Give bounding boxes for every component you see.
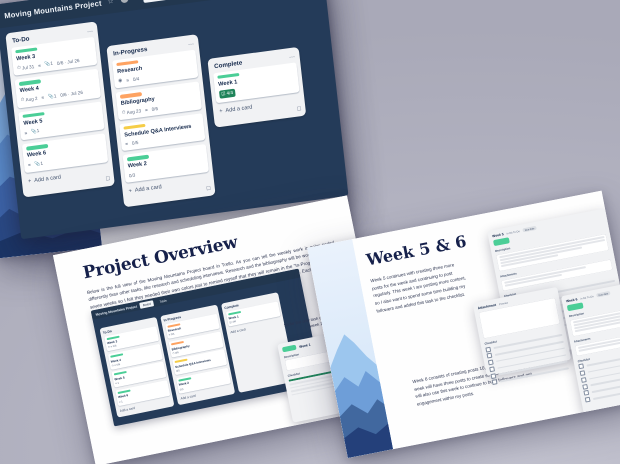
attachment-badge: 📎1 — [31, 128, 40, 135]
plus-icon: + — [128, 188, 132, 194]
checklist-badge: 0/5 — [132, 140, 139, 146]
checkbox-icon[interactable] — [581, 377, 587, 383]
list-to-do: To-Do ⋯ Week 3 ⏱Jul 31 ≡ 📎1 0/6 · Jul 26 — [5, 21, 115, 197]
checklist-badge: 0/6 — [151, 106, 158, 112]
mini-badge: ☑ 4/4 — [229, 320, 236, 324]
detail-label-chip — [282, 345, 297, 353]
checklist-text: 0/3 — [129, 172, 136, 178]
card-template-icon[interactable]: ☐ — [297, 106, 302, 113]
modal-label-chip — [493, 237, 510, 246]
list-in-progress: In-Progress ⋯ Research ◉ ≡ 0/4 Bibliogra… — [106, 34, 215, 207]
checkbox-icon[interactable] — [582, 384, 588, 390]
watch-icon: ◉ — [118, 78, 123, 84]
modal-label-chip — [567, 303, 584, 312]
mini-badge: ⏱ ≡ 0/6 — [111, 363, 120, 368]
checklist-text: 0/4 — [133, 76, 140, 82]
checklist-text: 4/4 — [226, 90, 233, 96]
detail-card-title: Week 1 — [299, 342, 311, 348]
due-date-text: Aug 23 — [126, 108, 141, 115]
modal-due-chip[interactable]: Due date — [522, 226, 536, 233]
checkbox-icon[interactable] — [489, 366, 495, 372]
modal-list-meta: in list To-Do — [580, 295, 594, 301]
checklist-text: 0/5 — [132, 140, 139, 146]
card-template-icon[interactable]: ☐ — [206, 185, 211, 192]
attachment-badge: 📎1 — [48, 93, 57, 100]
checklist-complete-badge: ☑ 4/4 — [219, 89, 235, 98]
star-icon[interactable]: ☆ — [107, 0, 115, 5]
description-icon: ≡ — [28, 162, 31, 167]
checkbox-icon[interactable] — [485, 346, 491, 352]
checkbox-icon[interactable] — [585, 397, 591, 403]
due-date-badge: ⏱Aug 23 — [122, 108, 142, 116]
plus-icon: + — [28, 178, 32, 184]
modal-title: Week 6 — [566, 297, 578, 303]
tab-board[interactable]: ◫ Board — [143, 0, 181, 3]
checkbox-icon[interactable] — [580, 370, 586, 376]
description-icon: ≡ — [145, 107, 148, 112]
clock-icon: ⏱ — [21, 98, 25, 103]
globe-icon[interactable]: ⚪ — [120, 0, 128, 4]
checkbox-icon[interactable] — [492, 380, 498, 386]
due-date-badge: ⏱Jul 31 — [17, 64, 34, 71]
description-icon: ≡ — [125, 141, 128, 146]
mini-badge: ≡ 0/4 — [169, 333, 175, 337]
mini-badge: ≡ 1 — [115, 382, 119, 386]
description-icon: ≡ — [126, 77, 129, 82]
description-icon: ≡ — [38, 63, 41, 68]
screenshot-canvas: Moving Mountains Project PROJECT MANAGME… — [0, 0, 620, 464]
attachment-preview-modal: Attachment Preview Checklist — [473, 287, 572, 376]
board-lists: To-Do ⋯ Week 3 ⏱Jul 31 ≡ 📎1 0/6 · Jul 26 — [0, 0, 347, 227]
checkbox-icon[interactable] — [488, 360, 494, 366]
due-date-text: Aug 2 — [25, 96, 37, 103]
due-date-badge: ⏱Aug 2 — [21, 96, 38, 103]
mini-badge: ≡ 1 — [119, 400, 123, 404]
checkbox-icon[interactable] — [583, 390, 589, 396]
clock-icon: ⏱ — [17, 66, 21, 71]
checklist-text: 0/6 · Jul 26 — [60, 90, 83, 98]
attachment-badge: 📎1 — [44, 61, 53, 68]
list-menu-icon[interactable]: ⋯ — [188, 41, 195, 49]
list-menu-icon[interactable]: ⋯ — [289, 53, 296, 61]
modal-title: Week 5 — [492, 232, 504, 238]
modal-list-meta: in list To-Do — [506, 230, 520, 236]
description-icon: ≡ — [41, 95, 44, 100]
checklist-badge: 0/3 — [129, 172, 136, 178]
card-template-icon[interactable]: ☐ — [105, 175, 110, 182]
mini-badge: ⏱ ≡ 0/6 — [108, 345, 117, 350]
checkbox-icon[interactable] — [490, 373, 496, 379]
checklist-badge: 0/4 — [133, 76, 140, 82]
checklist-text: 0/6 — [151, 106, 158, 112]
checklist-text: 0/6 · Jul 26 — [57, 58, 80, 66]
due-date-text: Jul 31 — [22, 64, 35, 71]
checkbox-icon[interactable] — [487, 353, 493, 359]
list-menu-icon[interactable]: ⋯ — [87, 28, 94, 36]
checklist-badge: 0/6 · Jul 26 — [57, 58, 80, 66]
mini-badge: ⏱ 0/6 — [172, 351, 179, 355]
modal-section-title: Preview — [499, 301, 509, 306]
plus-icon: + — [219, 108, 223, 114]
checkbox-icon[interactable] — [578, 364, 584, 370]
list-complete: Complete ⋯ Week 1 ☑ 4/4 + Add a card ☐ — [207, 47, 306, 127]
mini-badge: 0/3 — [179, 387, 183, 391]
attachment-badge: 📎1 — [34, 160, 43, 167]
modal-due-chip[interactable]: Due date — [596, 291, 610, 298]
description-icon: ≡ — [24, 130, 27, 135]
mini-badge: 0/5 — [176, 369, 180, 373]
checklist-badge: 0/6 · Jul 26 — [60, 90, 83, 98]
clock-icon: ⏱ — [122, 110, 126, 115]
